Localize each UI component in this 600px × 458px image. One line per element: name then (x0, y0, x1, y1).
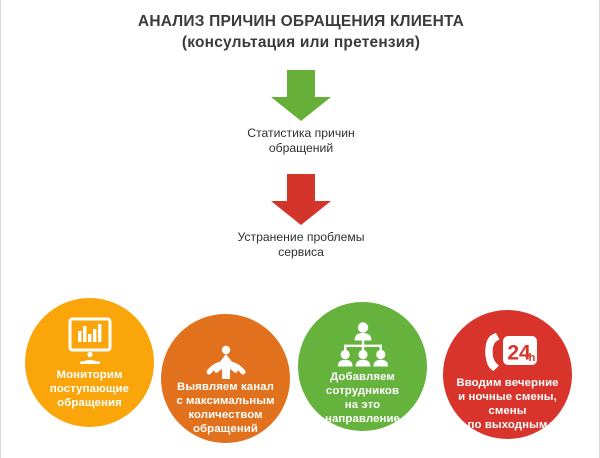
monitor-bar-chart-icon (25, 314, 154, 368)
flow-step-problem-fix: Устранение проблемы сервиса (1, 174, 600, 260)
circle-label-night-shifts: Вводим вечерние и ночные смены, смены по… (427, 376, 588, 432)
action-circles: Мониторим поступающие обращения Выявляем… (1, 296, 600, 458)
circle-label-line: обращений (143, 422, 308, 436)
circle-label-line: сотрудников (292, 384, 433, 398)
badge-hour-suffix: h (528, 352, 535, 364)
circle-channel-detection[interactable]: Выявляем канал с максимальным количество… (161, 314, 290, 443)
signal-antenna-icon (161, 330, 290, 384)
flow-step-statistics: Статистика причин обращений (1, 70, 600, 156)
flow-caption-statistics: Статистика причин обращений (1, 126, 600, 156)
flow-caption-line-2: сервиса (1, 245, 600, 260)
circle-label-line: Вводим вечерние (427, 376, 588, 390)
flow-caption-line-2: обращений (1, 141, 600, 156)
flow-caption-line-1: Статистика причин (1, 126, 600, 141)
circle-label-line: направление (292, 412, 433, 426)
circle-label-line: Мониторим (19, 368, 160, 382)
circle-label-add-staff: Добавляем сотрудников на это направление (292, 370, 433, 426)
circle-label-line: количеством (143, 408, 308, 422)
infographic-canvas: АНАЛИЗ ПРИЧИН ОБРАЩЕНИЯ КЛИЕНТА (консуль… (0, 0, 600, 458)
title-line-2: (консультация или претензия) (1, 32, 600, 53)
circle-label-line: и ночные смены, (427, 390, 588, 404)
page-title: АНАЛИЗ ПРИЧИН ОБРАЩЕНИЯ КЛИЕНТА (консуль… (1, 12, 600, 53)
circle-label-monitoring: Мониторим поступающие обращения (19, 368, 160, 410)
circle-label-line: смены (427, 404, 588, 418)
down-arrow-icon (270, 174, 332, 226)
circle-label-line: Добавляем (292, 370, 433, 384)
down-arrow-icon (270, 70, 332, 122)
circle-label-line: обращения (19, 396, 160, 410)
circle-monitoring[interactable]: Мониторим поступающие обращения (25, 298, 154, 427)
circle-add-staff[interactable]: Добавляем сотрудников на это направление (298, 302, 427, 431)
phone-24h-icon: 24 h (443, 326, 572, 380)
flow-caption-line-1: Устранение проблемы (1, 230, 600, 245)
circle-night-shifts[interactable]: 24 h Вводим вечерние и ночные смены, сме… (443, 310, 572, 439)
org-chart-people-icon (298, 318, 427, 372)
title-line-1: АНАЛИЗ ПРИЧИН ОБРАЩЕНИЯ КЛИЕНТА (1, 12, 600, 32)
flow-caption-problem-fix: Устранение проблемы сервиса (1, 230, 600, 260)
circle-label-line: с максимальным (143, 394, 308, 408)
circle-label-channel-detection: Выявляем канал с максимальным количество… (143, 380, 308, 436)
circle-label-line: поступающие (19, 382, 160, 396)
circle-label-line: Выявляем канал (143, 380, 308, 394)
circle-label-line: на это (292, 398, 433, 412)
badge-24-text: 24 (507, 342, 531, 365)
process-flow: Статистика причин обращений Устранение п… (1, 70, 600, 260)
circle-label-line: по выходным (427, 418, 588, 432)
